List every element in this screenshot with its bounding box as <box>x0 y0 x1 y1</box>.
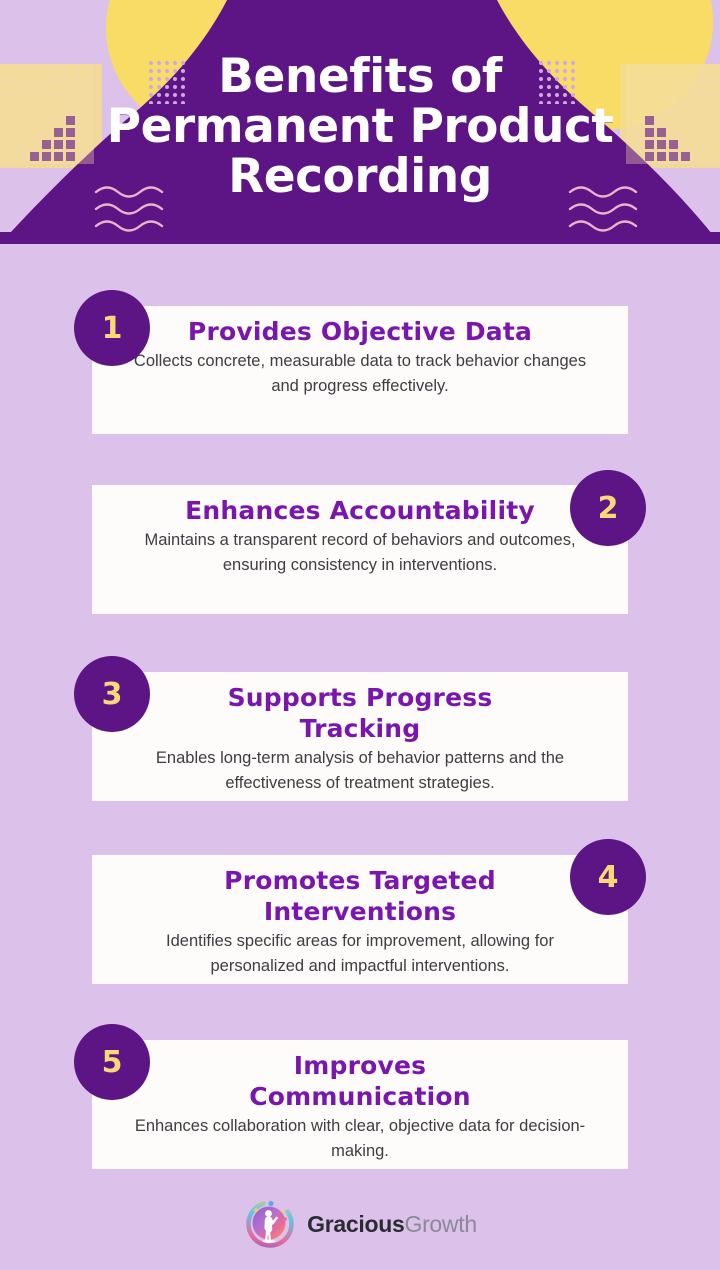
page-title-line-1: Benefits of <box>0 52 720 102</box>
benefit-card-3-title: Supports Progress Tracking <box>195 682 525 744</box>
benefit-card-2-body: Maintains a transparent record of behavi… <box>118 528 602 578</box>
infographic-poster: Benefits of Permanent Product Recording … <box>0 0 720 1270</box>
benefit-badge-2: 2 <box>570 470 646 546</box>
page-title: Benefits of Permanent Product Recording <box>0 52 720 202</box>
benefit-card-1-body: Collects concrete, measurable data to tr… <box>118 349 602 399</box>
benefit-badge-1: 1 <box>74 290 150 366</box>
benefit-badge-4: 4 <box>570 839 646 915</box>
benefit-card-1: Provides Objective Data Collects concret… <box>92 306 628 434</box>
benefit-badge-2-number: 2 <box>598 491 619 526</box>
page-title-line-3: Recording <box>0 152 720 202</box>
benefit-badge-3-number: 3 <box>102 677 123 712</box>
benefit-badge-4-number: 4 <box>598 860 619 895</box>
benefit-badge-3: 3 <box>74 656 150 732</box>
benefit-card-1-title: Provides Objective Data <box>118 316 602 347</box>
benefit-badge-5: 5 <box>74 1024 150 1100</box>
benefit-badge-5-number: 5 <box>102 1045 123 1080</box>
benefit-card-5-body: Enhances collaboration with clear, objec… <box>118 1114 602 1164</box>
benefit-card-4-body: Identifies specific areas for improvemen… <box>118 929 602 979</box>
gracious-growth-logo-icon <box>243 1197 297 1251</box>
benefit-badge-1-number: 1 <box>102 311 123 346</box>
brand-name-primary: Gracious <box>307 1211 404 1237</box>
benefit-card-2-title: Enhances Accountability <box>118 495 602 526</box>
benefit-card-5: Improves Communication Enhances collabor… <box>92 1040 628 1169</box>
benefit-card-2: Enhances Accountability Maintains a tran… <box>92 485 628 614</box>
benefit-card-3: Supports Progress Tracking Enables long-… <box>92 672 628 801</box>
page-title-line-2: Permanent Product <box>0 102 720 152</box>
benefit-card-4-title: Promotes Targeted Interventions <box>185 865 535 927</box>
benefit-card-3-body: Enables long-term analysis of behavior p… <box>118 746 602 796</box>
benefit-card-4: Promotes Targeted Interventions Identifi… <box>92 855 628 984</box>
header-banner: Benefits of Permanent Product Recording <box>0 0 720 244</box>
benefit-card-5-title: Improves Communication <box>225 1050 495 1112</box>
brand-name-secondary: Growth <box>404 1211 476 1237</box>
brand-name: GraciousGrowth <box>307 1211 477 1238</box>
header-bottom-band <box>0 232 720 244</box>
footer-branding: GraciousGrowth <box>0 1192 720 1256</box>
